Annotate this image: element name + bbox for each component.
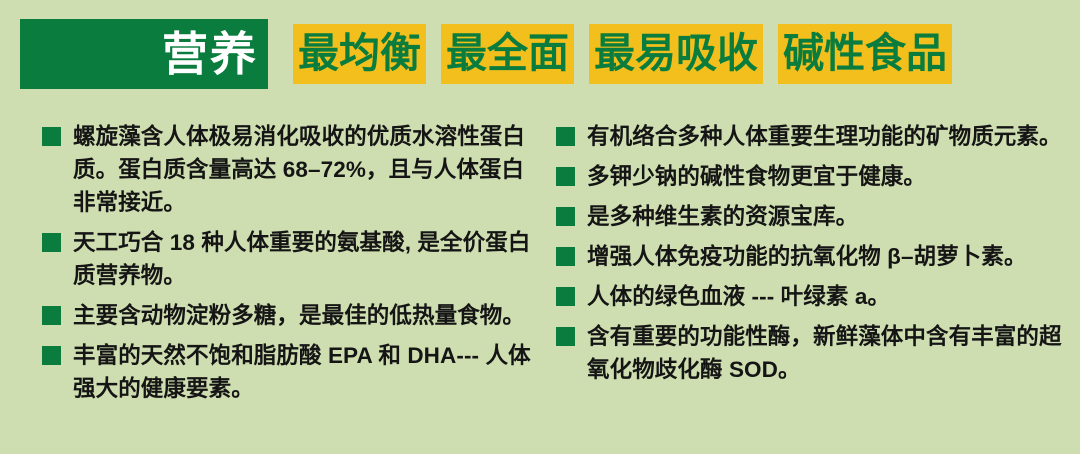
list-item: 螺旋藻含人体极易消化吸收的优质水溶性蛋白质。蛋白质含量高达 68–72%，且与人… (42, 120, 540, 219)
list-item: 天工巧合 18 种人体重要的氨基酸, 是全价蛋白质营养物。 (42, 226, 540, 292)
right-column: 有机络合多种人体重要生理功能的矿物质元素。 多钾少钠的碱性食物更宜于健康。 是多… (548, 120, 1080, 454)
bullet-square-icon (42, 346, 61, 365)
bullet-square-icon (556, 207, 575, 226)
list-item-text: 人体的绿色血液 --- 叶绿素 a。 (587, 280, 890, 313)
slogan-most-comprehensive: 最全面 (441, 24, 574, 84)
list-item-text: 丰富的天然不饱和脂肪酸 EPA 和 DHA--- 人体强大的健康要素。 (73, 339, 540, 405)
bullet-square-icon (42, 233, 61, 252)
bullet-square-icon (42, 306, 61, 325)
list-item: 是多种维生素的资源宝库。 (556, 200, 1062, 233)
slogan-alkaline-food: 碱性食品 (778, 24, 952, 84)
list-item-text: 是多种维生素的资源宝库。 (587, 200, 858, 233)
nutrition-badge-label: 营养 (162, 31, 258, 77)
bullet-square-icon (42, 127, 61, 146)
left-column: 螺旋藻含人体极易消化吸收的优质水溶性蛋白质。蛋白质含量高达 68–72%，且与人… (0, 120, 548, 454)
bullet-square-icon (556, 127, 575, 146)
list-item-text: 增强人体免疫功能的抗氧化物 β–胡萝卜素。 (587, 240, 1027, 273)
list-item: 多钾少钠的碱性食物更宜于健康。 (556, 160, 1062, 193)
bullet-square-icon (556, 247, 575, 266)
list-item: 主要含动物淀粉多糖，是最佳的低热量食物。 (42, 299, 540, 332)
list-item: 人体的绿色血液 --- 叶绿素 a。 (556, 280, 1062, 313)
slogan-list: 最均衡 最全面 最易吸收 碱性食品 (293, 24, 952, 84)
slogan-most-balanced: 最均衡 (293, 24, 426, 84)
slogan-most-absorbable: 最易吸收 (589, 24, 763, 84)
list-item-text: 主要含动物淀粉多糖，是最佳的低热量食物。 (73, 299, 525, 332)
bullet-square-icon (556, 287, 575, 306)
list-item: 丰富的天然不饱和脂肪酸 EPA 和 DHA--- 人体强大的健康要素。 (42, 339, 540, 405)
list-item: 含有重要的功能性酶，新鲜藻体中含有丰富的超氧化物歧化酶 SOD。 (556, 320, 1062, 386)
nutrition-badge: 营养 (20, 19, 268, 89)
list-item-text: 含有重要的功能性酶，新鲜藻体中含有丰富的超氧化物歧化酶 SOD。 (587, 320, 1062, 386)
list-item: 增强人体免疫功能的抗氧化物 β–胡萝卜素。 (556, 240, 1062, 273)
list-item-text: 多钾少钠的碱性食物更宜于健康。 (587, 160, 926, 193)
content-columns: 螺旋藻含人体极易消化吸收的优质水溶性蛋白质。蛋白质含量高达 68–72%，且与人… (0, 120, 1080, 454)
bullet-square-icon (556, 327, 575, 346)
list-item-text: 天工巧合 18 种人体重要的氨基酸, 是全价蛋白质营养物。 (73, 226, 540, 292)
list-item-text: 螺旋藻含人体极易消化吸收的优质水溶性蛋白质。蛋白质含量高达 68–72%，且与人… (73, 120, 540, 219)
list-item: 有机络合多种人体重要生理功能的矿物质元素。 (556, 120, 1062, 153)
list-item-text: 有机络合多种人体重要生理功能的矿物质元素。 (587, 120, 1062, 153)
header-banner: 营养 最均衡 最全面 最易吸收 碱性食品 (0, 14, 1080, 94)
nutrition-infographic: 营养 最均衡 最全面 最易吸收 碱性食品 螺旋藻含人体极易消化吸收的优质水溶性蛋… (0, 0, 1080, 454)
bullet-square-icon (556, 167, 575, 186)
